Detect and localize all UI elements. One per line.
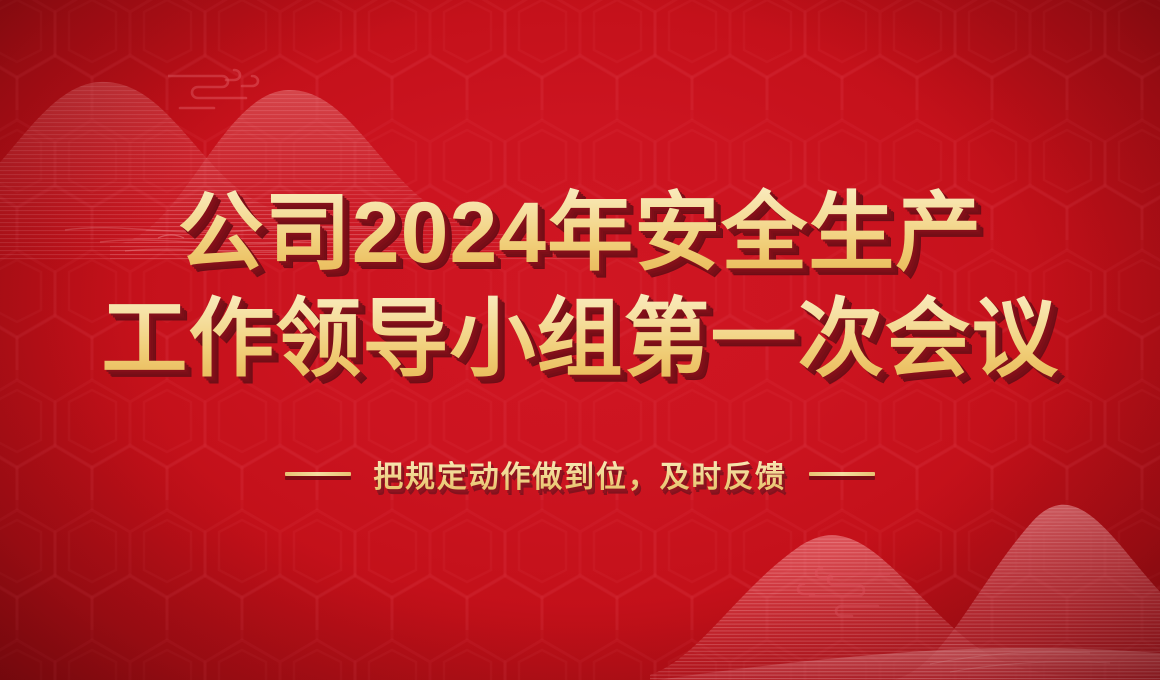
title-line-1: 公司2024年安全生产 公司2024年安全生产 xyxy=(101,190,1058,276)
poster-content: 公司2024年安全生产 公司2024年安全生产 工作领导小组第一次会议 工作领导… xyxy=(0,0,1160,680)
subtitle-dash-left-icon xyxy=(285,472,351,476)
subtitle-face: 把规定动作做到位，及时反馈 xyxy=(373,461,786,494)
poster-subtitle-row: 把规定动作做到位，及时反馈 把规定动作做到位，及时反馈 xyxy=(285,452,874,496)
poster-title: 公司2024年安全生产 公司2024年安全生产 工作领导小组第一次会议 工作领导… xyxy=(101,190,1058,382)
poster-canvas: 公司2024年安全生产 公司2024年安全生产 工作领导小组第一次会议 工作领导… xyxy=(0,0,1160,680)
title-line-2: 工作领导小组第一次会议 工作领导小组第一次会议 xyxy=(101,296,1058,382)
poster-subtitle: 把规定动作做到位，及时反馈 把规定动作做到位，及时反馈 xyxy=(373,452,786,496)
title-line-1-face: 公司2024年安全生产 xyxy=(178,185,983,281)
subtitle-dash-right-icon xyxy=(809,472,875,476)
title-line-2-face: 工作领导小组第一次会议 xyxy=(101,291,1058,387)
